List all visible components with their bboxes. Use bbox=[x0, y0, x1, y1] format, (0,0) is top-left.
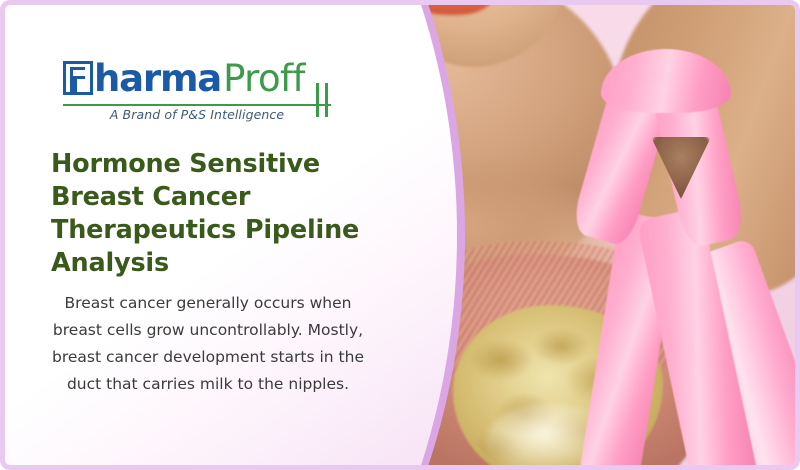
ribbon-loop-top bbox=[601, 49, 731, 113]
logo-name-secondary: Proff bbox=[223, 60, 305, 97]
logo-wordmark: harma Proff bbox=[63, 57, 333, 103]
logo-tagline: A Brand of P&S Intelligence bbox=[63, 107, 331, 122]
pharmaproff-logo[interactable]: harma Proff A Brand of P&S Intelligence bbox=[63, 57, 333, 103]
promotional-banner: harma Proff A Brand of P&S Intelligence … bbox=[0, 0, 800, 470]
logo-divider-rule bbox=[63, 104, 331, 106]
description-text: Breast cancer generally occurs when brea… bbox=[43, 290, 373, 398]
logo-p-mark-icon bbox=[63, 61, 93, 95]
logo-name-primary: harma bbox=[94, 60, 221, 97]
page-title: Hormone Sensitive Breast Cancer Therapeu… bbox=[51, 148, 421, 280]
